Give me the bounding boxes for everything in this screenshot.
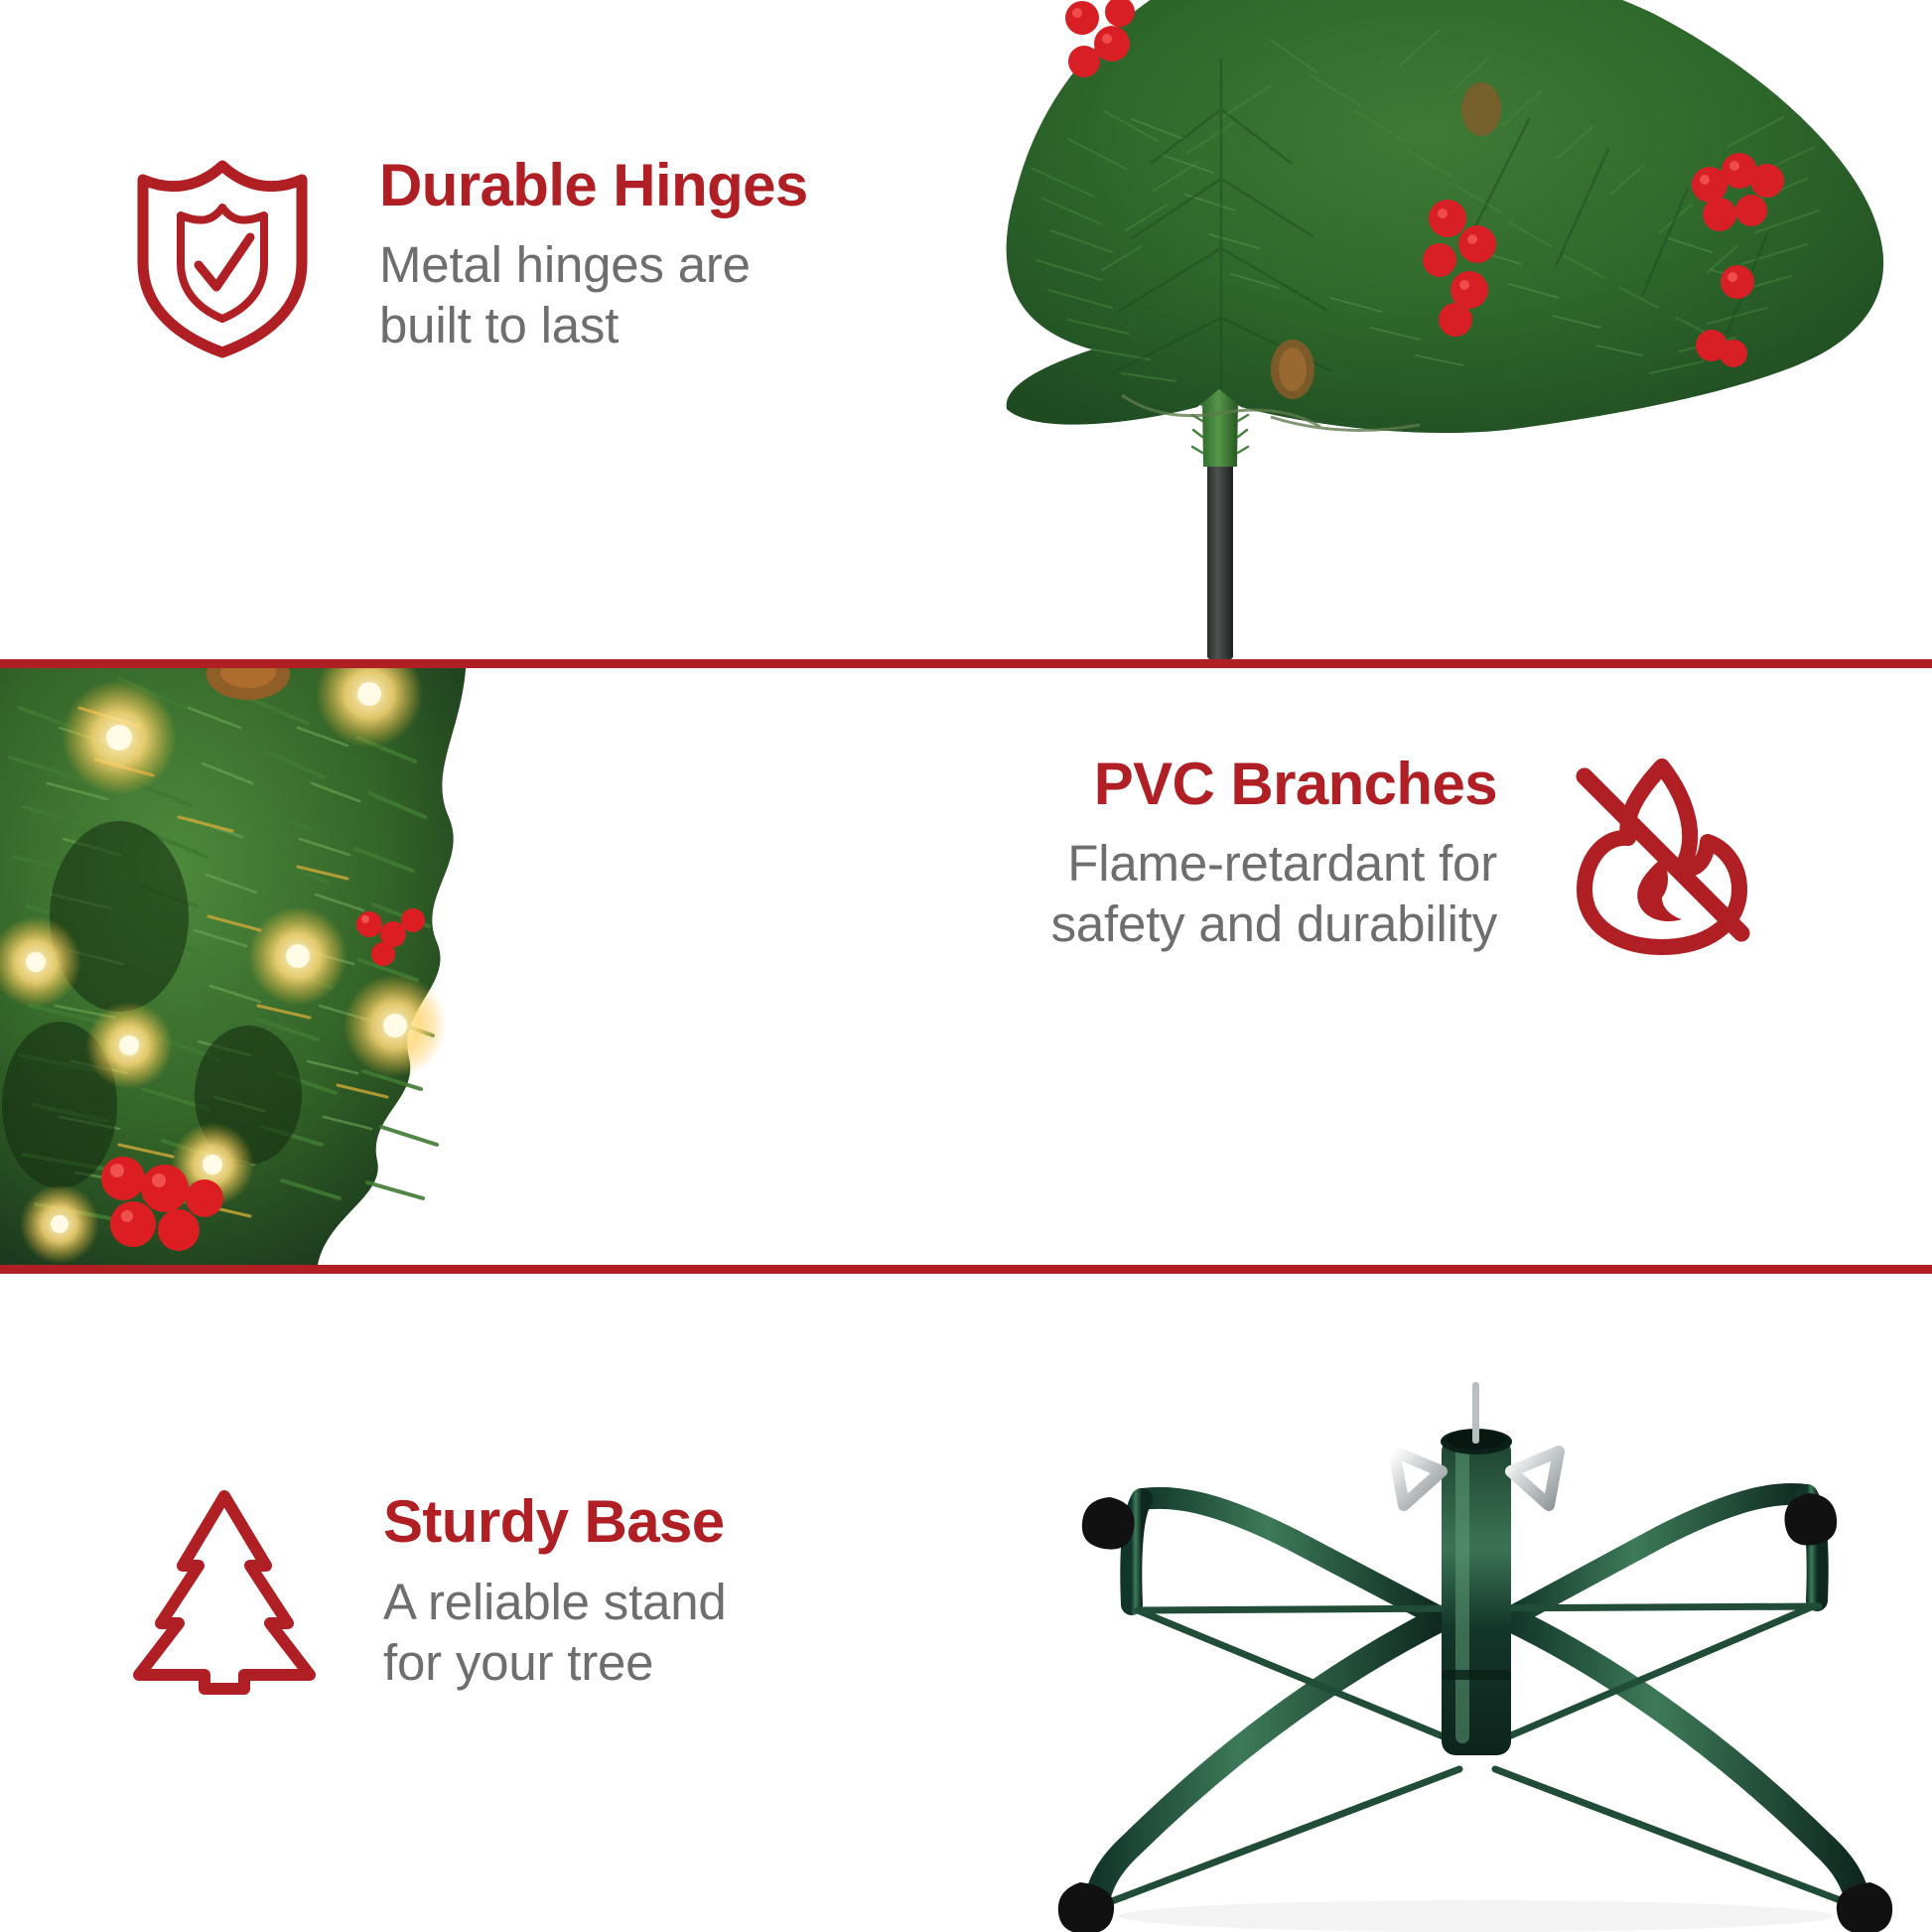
feature-description-line-2: safety and durability — [1051, 896, 1497, 952]
feature-title-durable-hinges: Durable Hinges — [379, 155, 808, 216]
feature-description-sturdy-base: A reliable stand for your tree — [383, 1572, 727, 1693]
no-flame-icon — [1559, 751, 1765, 957]
feature-description-line-1: Flame-retardant for — [1067, 835, 1497, 892]
pre-lit-tree-closeup-photo — [0, 668, 556, 1265]
feature-sturdy-base: Sturdy Base A reliable stand for your tr… — [127, 1470, 911, 1714]
feature-panel-sturdy-base: Sturdy Base A reliable stand for your tr… — [0, 1274, 1932, 1932]
feature-description-line-2: built to last — [379, 297, 619, 353]
feature-title-sturdy-base: Sturdy Base — [383, 1491, 727, 1553]
feature-text-pvc-branches: PVC Branches Flame-retardant for safety … — [1051, 754, 1497, 955]
feature-durable-hinges: Durable Hinges Metal hinges are built to… — [127, 141, 882, 369]
feature-text-sturdy-base: Sturdy Base A reliable stand for your tr… — [383, 1491, 727, 1693]
pine-tree-icon — [127, 1484, 322, 1701]
feature-description-line-2: for your tree — [383, 1634, 653, 1691]
feature-panel-pvc-branches: PVC Branches Flame-retardant for safety … — [0, 668, 1932, 1266]
section-divider-bottom — [0, 1265, 1932, 1274]
feature-pvc-branches: PVC Branches Flame-retardant for safety … — [991, 735, 1765, 973]
product-feature-infographic: Durable Hinges Metal hinges are built to… — [0, 0, 1932, 1932]
feature-description-durable-hinges: Metal hinges are built to last — [379, 234, 808, 355]
shield-check-icon — [127, 152, 318, 358]
feature-description-line-1: Metal hinges are — [379, 236, 751, 293]
christmas-tree-branch-photo — [973, 0, 1932, 659]
tree-stand-photo — [993, 1320, 1932, 1932]
feature-text-durable-hinges: Durable Hinges Metal hinges are built to… — [379, 155, 808, 356]
feature-panel-durable-hinges: Durable Hinges Metal hinges are built to… — [0, 0, 1932, 660]
feature-title-pvc-branches: PVC Branches — [1051, 754, 1497, 815]
feature-description-pvc-branches: Flame-retardant for safety and durabilit… — [1051, 833, 1497, 954]
feature-description-line-1: A reliable stand — [383, 1574, 727, 1630]
section-divider-top — [0, 659, 1932, 668]
